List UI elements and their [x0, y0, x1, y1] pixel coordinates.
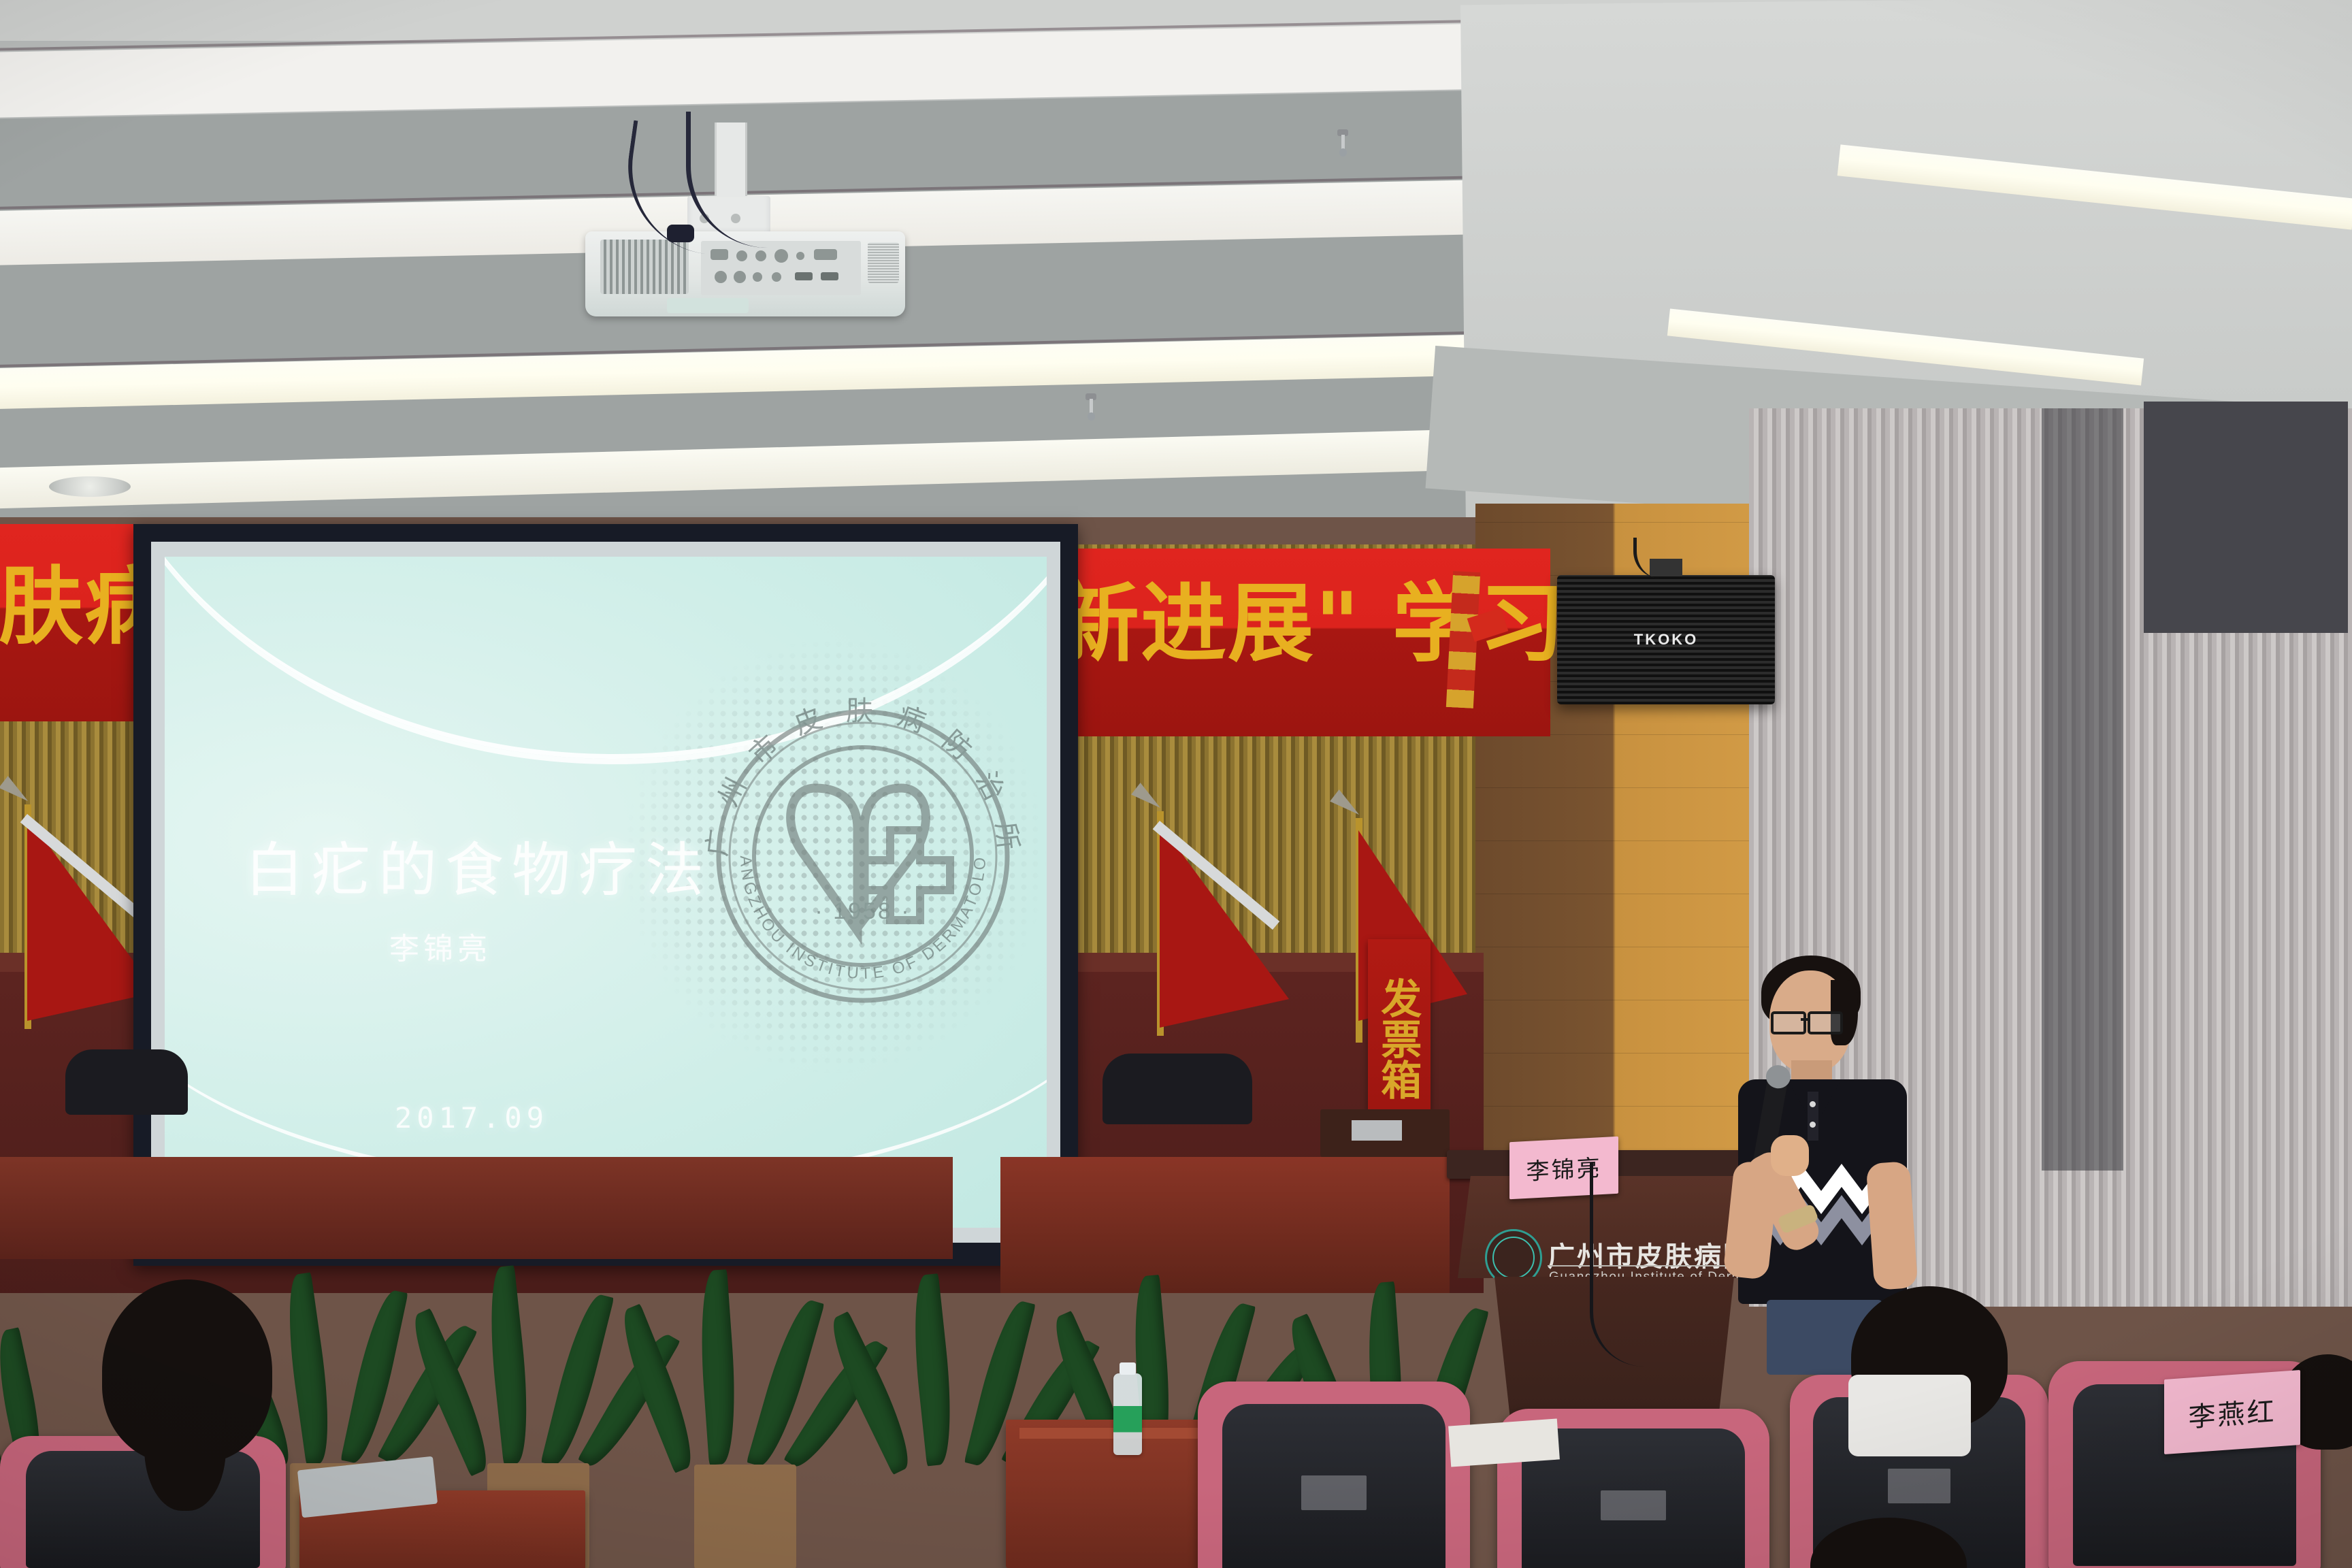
stage-desk-left [0, 1157, 953, 1259]
svg-text:· 1958 ·: · 1958 · [815, 898, 911, 924]
audience-name-card-text: 李燕红 [2189, 1389, 2276, 1435]
fire-sprinkler-icon [1337, 129, 1348, 161]
ceiling-projector [585, 122, 912, 347]
vertical-banner-text: 发票箱 [1373, 977, 1422, 1100]
audience-name-card: 李燕红 [2164, 1370, 2300, 1454]
handout-paper [1448, 1418, 1560, 1467]
projector-vent-icon [600, 240, 689, 294]
slide-date: 2017.09 [395, 1101, 549, 1134]
recessed-ceiling-light [49, 476, 131, 497]
lectern-paper [1352, 1120, 1402, 1141]
ceremonial-flags-4 [1305, 789, 1578, 1143]
speaker-brand-label: TKOKO [1634, 631, 1698, 649]
water-bottle [1113, 1373, 1142, 1455]
eyeglasses-icon [1771, 1011, 1842, 1029]
fire-sprinkler-icon-2 [1085, 393, 1096, 425]
slide-author: 李锦亮 [389, 924, 491, 968]
lecture-hall-photo: 皮肤病 新进展" 学习班 发票箱 [0, 0, 2352, 1568]
presentation-slide: 广 州 市 皮 肤 病 防 治 所 GUANGZHOU INSTITUTE OF… [165, 557, 1047, 1228]
stage-chair-2 [1102, 1053, 1252, 1124]
slide-title: 白疕的食物疗法 [245, 822, 712, 907]
stage-chair [65, 1049, 188, 1115]
auditorium-seat[interactable] [1198, 1382, 1470, 1568]
institution-seal-logo: 广 州 市 皮 肤 病 防 治 所 GUANGZHOU INSTITUTE OF… [686, 659, 1040, 1040]
wall-speaker: TKOKO [1557, 575, 1775, 704]
audience-shirt [1848, 1375, 1971, 1456]
projection-screen: 广 州 市 皮 肤 病 防 治 所 GUANGZHOU INSTITUTE OF… [133, 524, 1078, 1266]
banner-left: 皮肤病 [0, 524, 150, 721]
